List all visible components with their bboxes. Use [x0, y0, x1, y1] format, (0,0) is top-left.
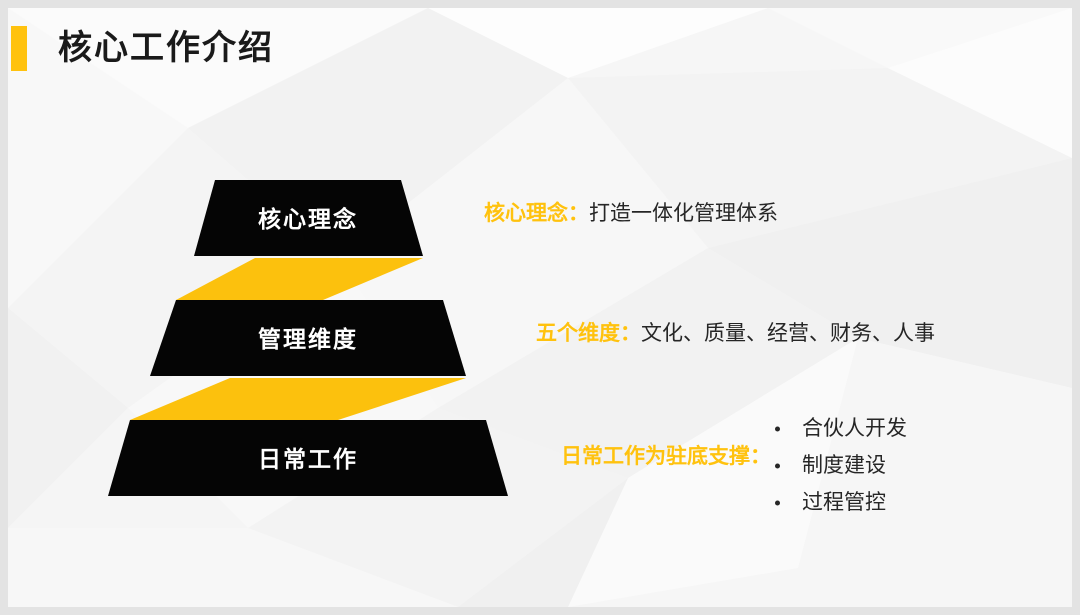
- description-row-core-concept: 核心理念：打造一体化管理体系: [484, 199, 778, 229]
- description-label-five-dimensions: 五个维度：: [536, 322, 641, 345]
- slide-frame: 核心工作介绍 核心理念 管理维度 日常工作: [0, 0, 1080, 615]
- description-row-five-dimensions: 五个维度：文化、质量、经营、财务、人事: [536, 319, 935, 349]
- pyramid-ribbon-1: [176, 258, 423, 300]
- slide-header: 核心工作介绍: [8, 8, 1072, 98]
- bullet-dot-icon: [775, 500, 780, 505]
- pyramid-ribbon-2: [130, 378, 466, 420]
- list-item-label: 制度建设: [802, 454, 886, 477]
- description-value-core-concept: 打造一体化管理体系: [589, 202, 778, 225]
- list-item: 制度建设: [770, 447, 907, 484]
- description-value-five-dimensions: 文化、质量、经营、财务、人事: [641, 322, 935, 345]
- bullet-dot-icon: [775, 426, 780, 431]
- description-label-daily-work: 日常工作为驻底支撑：: [561, 445, 771, 468]
- pyramid-tier-3-label: 日常工作: [258, 446, 358, 472]
- list-item: 合伙人开发: [770, 410, 907, 447]
- pyramid-diagram: 核心理念 管理维度 日常工作: [92, 164, 522, 512]
- page-title: 核心工作介绍: [58, 25, 274, 71]
- slide-canvas: 核心工作介绍 核心理念 管理维度 日常工作: [8, 8, 1072, 607]
- pyramid-tier-2-label: 管理维度: [258, 326, 358, 352]
- pyramid-tier-1[interactable]: 核心理念: [194, 180, 423, 256]
- list-item: 过程管控: [770, 484, 907, 521]
- pyramid-tier-2[interactable]: 管理维度: [150, 300, 466, 376]
- daily-work-bullet-list: 合伙人开发 制度建设 过程管控: [770, 410, 907, 521]
- pyramid-tier-1-label: 核心理念: [258, 206, 358, 232]
- bullet-dot-icon: [775, 463, 780, 468]
- description-label-core-concept: 核心理念：: [484, 202, 589, 225]
- title-accent-bar: [11, 26, 27, 71]
- list-item-label: 合伙人开发: [802, 417, 907, 440]
- description-column: 核心理念：打造一体化管理体系 五个维度：文化、质量、经营、财务、人事 日常工作为…: [468, 168, 1068, 538]
- description-row-daily-work: 日常工作为驻底支撑：: [561, 440, 771, 470]
- pyramid-tier-3[interactable]: 日常工作: [108, 420, 508, 496]
- list-item-label: 过程管控: [802, 491, 886, 514]
